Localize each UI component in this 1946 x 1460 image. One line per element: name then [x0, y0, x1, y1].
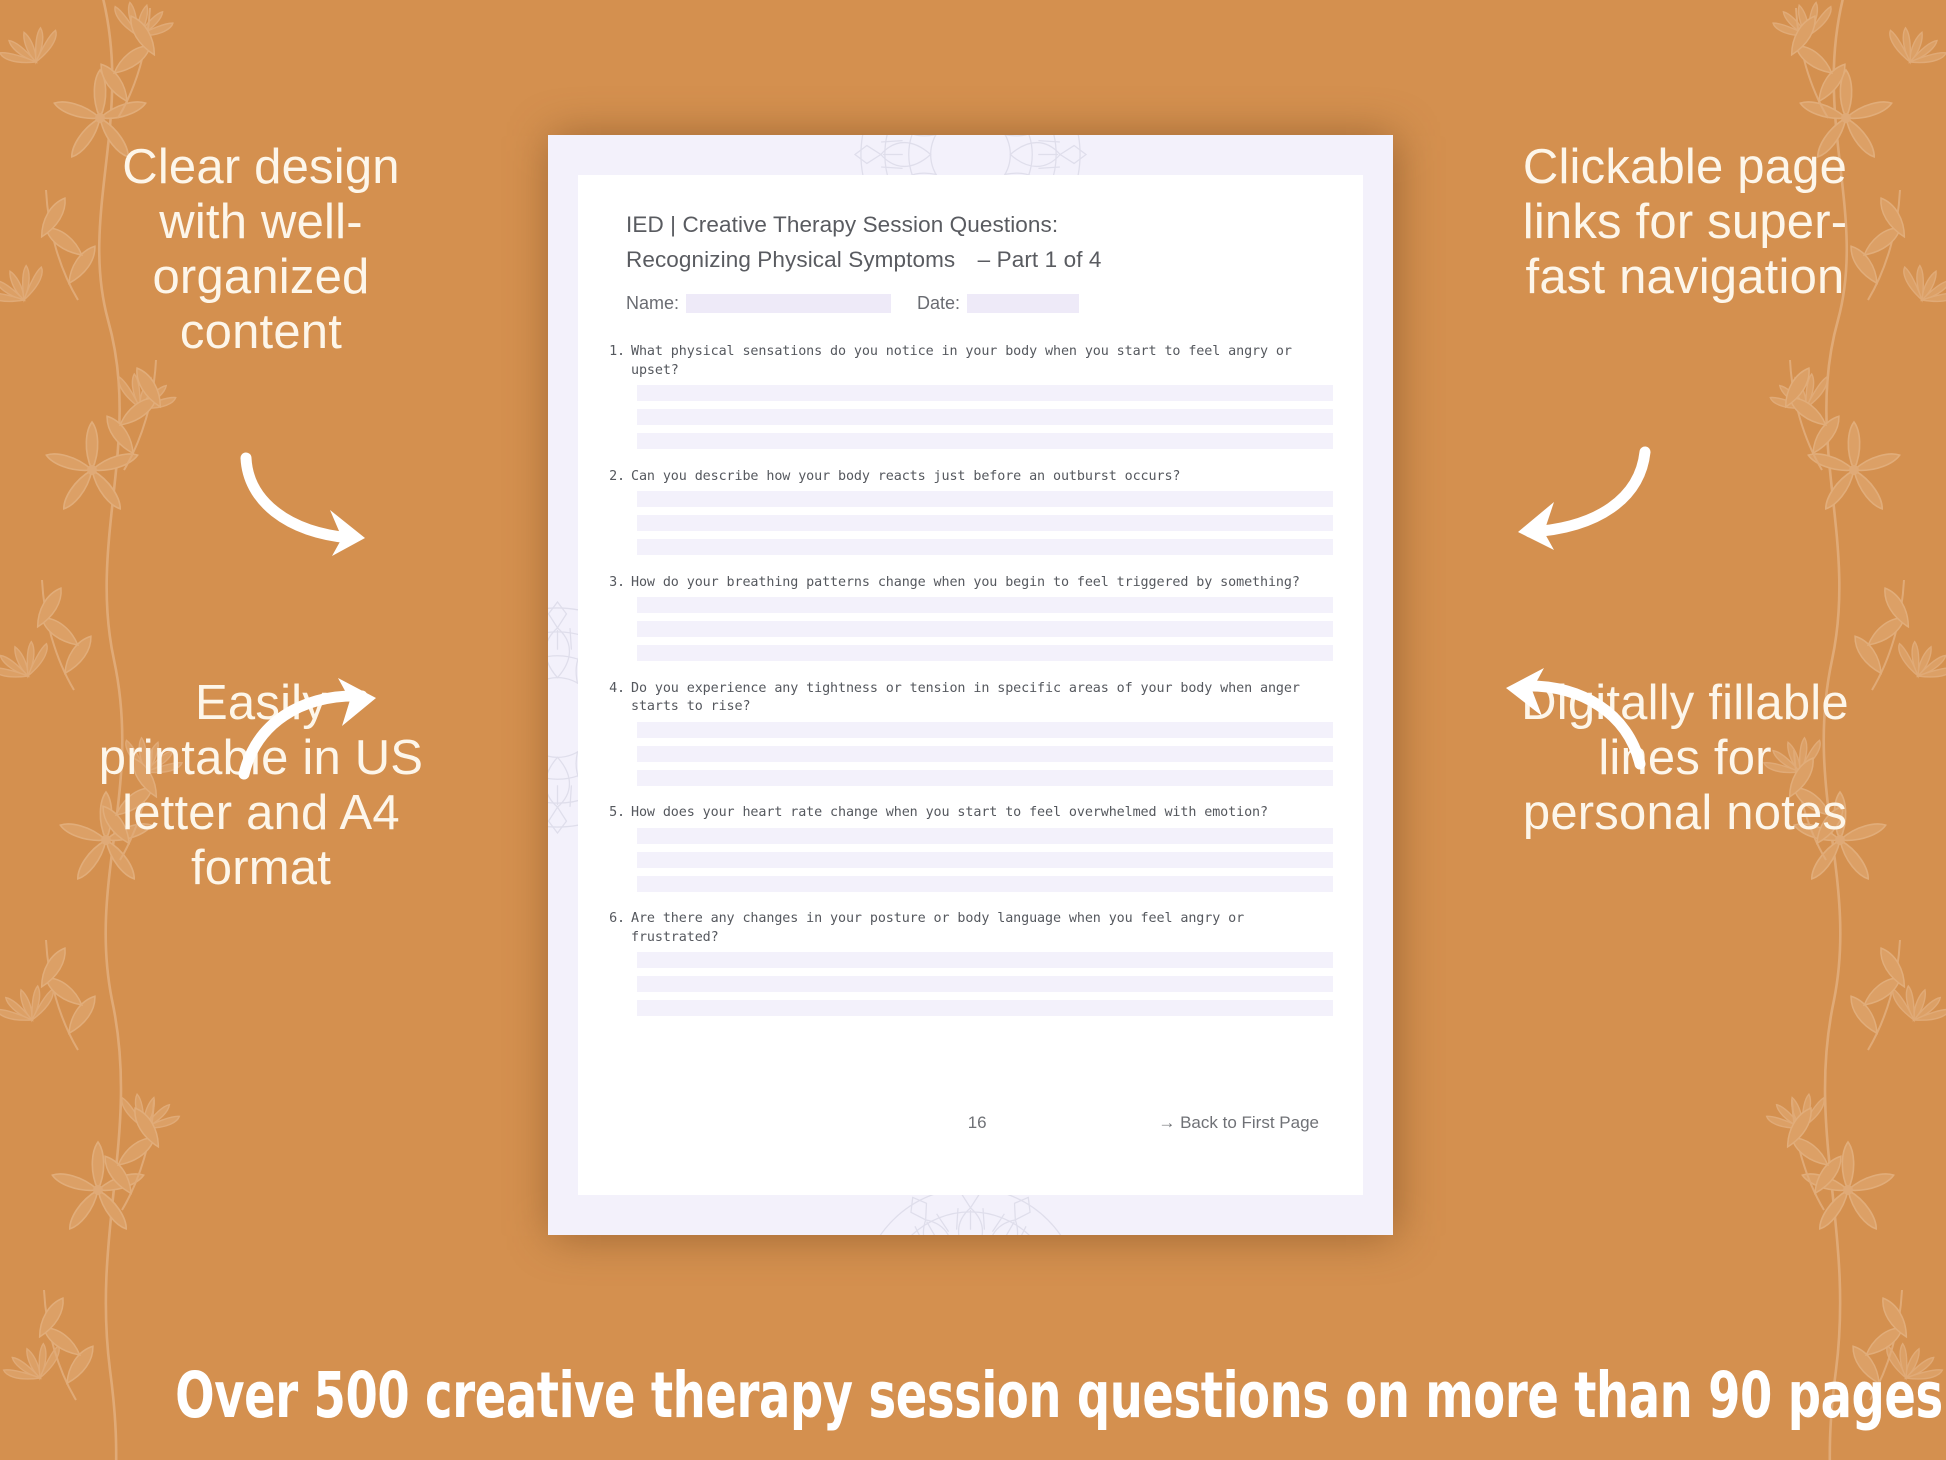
question-item: 2. Can you describe how your body reacts… — [607, 468, 1333, 556]
answer-line[interactable] — [637, 746, 1333, 762]
answer-lines — [607, 385, 1333, 449]
document-subtitle: Recognizing Physical Symptoms – Part 1 o… — [626, 247, 1102, 273]
question-text: How does your heart rate change when you… — [631, 804, 1333, 823]
answer-line[interactable] — [637, 645, 1333, 661]
name-field-label: Name: — [626, 293, 679, 314]
answer-lines — [607, 828, 1333, 892]
answer-line[interactable] — [637, 597, 1333, 613]
name-field-input[interactable] — [686, 294, 891, 313]
answer-line[interactable] — [637, 491, 1333, 507]
question-number: 5. — [607, 804, 631, 823]
question-item: 3. How do your breathing patterns change… — [607, 574, 1333, 662]
promo-text-bottom-right: Digitally fillable lines for personal no… — [1520, 676, 1850, 841]
worksheet-document: IED | Creative Therapy Session Questions… — [548, 135, 1393, 1235]
answer-line[interactable] — [637, 409, 1333, 425]
answer-lines — [607, 491, 1333, 555]
document-footer: 16 → Back to First Page — [626, 1113, 1319, 1133]
answer-line[interactable] — [637, 852, 1333, 868]
promo-banner: Over 500 creative therapy session questi… — [175, 1359, 1771, 1432]
date-field-label: Date: — [917, 293, 960, 314]
questions-list: 1. What physical sensations do you notic… — [607, 343, 1333, 1035]
back-to-first-page-link[interactable]: → Back to First Page — [1158, 1113, 1319, 1133]
document-part-label: – Part 1 of 4 — [978, 247, 1102, 272]
question-item: 1. What physical sensations do you notic… — [607, 343, 1333, 449]
question-text: Do you experience any tightness or tensi… — [631, 680, 1333, 717]
answer-line[interactable] — [637, 722, 1333, 738]
answer-line[interactable] — [637, 1000, 1333, 1016]
question-text: What physical sensations do you notice i… — [631, 343, 1333, 380]
promo-text-top-right: Clickable page links for super-fast navi… — [1520, 140, 1850, 305]
question-text: How do your breathing patterns change wh… — [631, 574, 1333, 593]
answer-line[interactable] — [637, 952, 1333, 968]
answer-line[interactable] — [637, 876, 1333, 892]
promo-text-top-left: Clear design with well-organized content — [96, 140, 426, 360]
question-number: 2. — [607, 468, 631, 487]
answer-line[interactable] — [637, 770, 1333, 786]
answer-line[interactable] — [637, 385, 1333, 401]
answer-line[interactable] — [637, 539, 1333, 555]
question-item: 6. Are there any changes in your posture… — [607, 910, 1333, 1016]
date-field-input[interactable] — [967, 294, 1079, 313]
question-text: Are there any changes in your posture or… — [631, 910, 1333, 947]
question-number: 6. — [607, 910, 631, 947]
page-number: 16 — [626, 1113, 1158, 1133]
curved-arrow-down-left-icon — [1478, 440, 1653, 550]
question-item: 4. Do you experience any tightness or te… — [607, 680, 1333, 786]
worksheet-page: IED | Creative Therapy Session Questions… — [578, 175, 1363, 1195]
mandala-watermark-icon — [1386, 590, 1393, 845]
meta-fields-row: Name: Date: — [626, 293, 1079, 314]
question-number: 4. — [607, 680, 631, 717]
answer-line[interactable] — [637, 433, 1333, 449]
answer-line[interactable] — [637, 515, 1333, 531]
question-text: Can you describe how your body reacts ju… — [631, 468, 1333, 487]
curved-arrow-down-right-icon — [238, 452, 398, 557]
answer-line[interactable] — [637, 828, 1333, 844]
answer-line[interactable] — [637, 976, 1333, 992]
document-subtitle-text: Recognizing Physical Symptoms — [626, 247, 955, 272]
answer-lines — [607, 952, 1333, 1016]
promo-text-bottom-left: Easily printable in US letter and A4 for… — [96, 676, 426, 896]
question-number: 1. — [607, 343, 631, 380]
answer-lines — [607, 722, 1333, 786]
answer-lines — [607, 597, 1333, 661]
question-number: 3. — [607, 574, 631, 593]
document-title: IED | Creative Therapy Session Questions… — [626, 212, 1058, 238]
answer-line[interactable] — [637, 621, 1333, 637]
question-item: 5. How does your heart rate change when … — [607, 804, 1333, 892]
